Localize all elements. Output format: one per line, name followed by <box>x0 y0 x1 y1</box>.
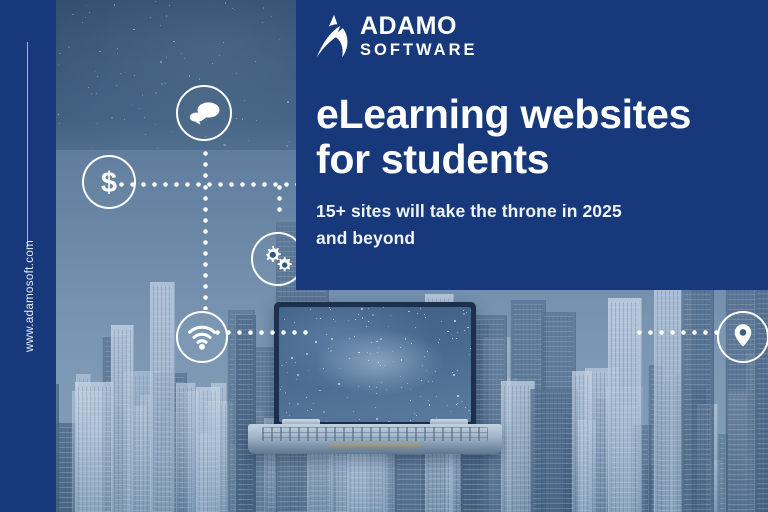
brand-logo[interactable]: ADAMO SOFTWARE <box>316 14 478 59</box>
subhead-line-2: and beyond <box>316 228 415 248</box>
brand-name-top: ADAMO <box>360 14 478 39</box>
headline-line-1: eLearning websites <box>316 91 691 137</box>
laptop-illustration <box>248 302 502 454</box>
headline-line-2: for students <box>316 136 549 182</box>
page-title: eLearning websites for students <box>316 92 764 182</box>
adamo-arrow-logo-icon <box>316 14 350 58</box>
laptop-base <box>248 424 502 454</box>
website-url-vertical[interactable]: www.adamosoft.com <box>24 206 36 386</box>
laptop-lid <box>274 302 476 430</box>
page-subtitle: 15+ sites will take the throne in 2025 a… <box>316 198 756 251</box>
laptop-screen <box>279 307 471 422</box>
promo-banner: $ <box>0 0 768 512</box>
brand-name-bottom: SOFTWARE <box>360 42 478 59</box>
laptop-trackpad <box>329 443 421 449</box>
headline-panel: ADAMO SOFTWARE eLearning websites for st… <box>296 0 768 290</box>
brand-wordmark: ADAMO SOFTWARE <box>360 14 478 59</box>
subhead-line-1: 15+ sites will take the throne in 2025 <box>316 201 622 221</box>
left-brand-rail: www.adamosoft.com <box>0 0 56 512</box>
laptop-keyboard <box>262 427 488 441</box>
